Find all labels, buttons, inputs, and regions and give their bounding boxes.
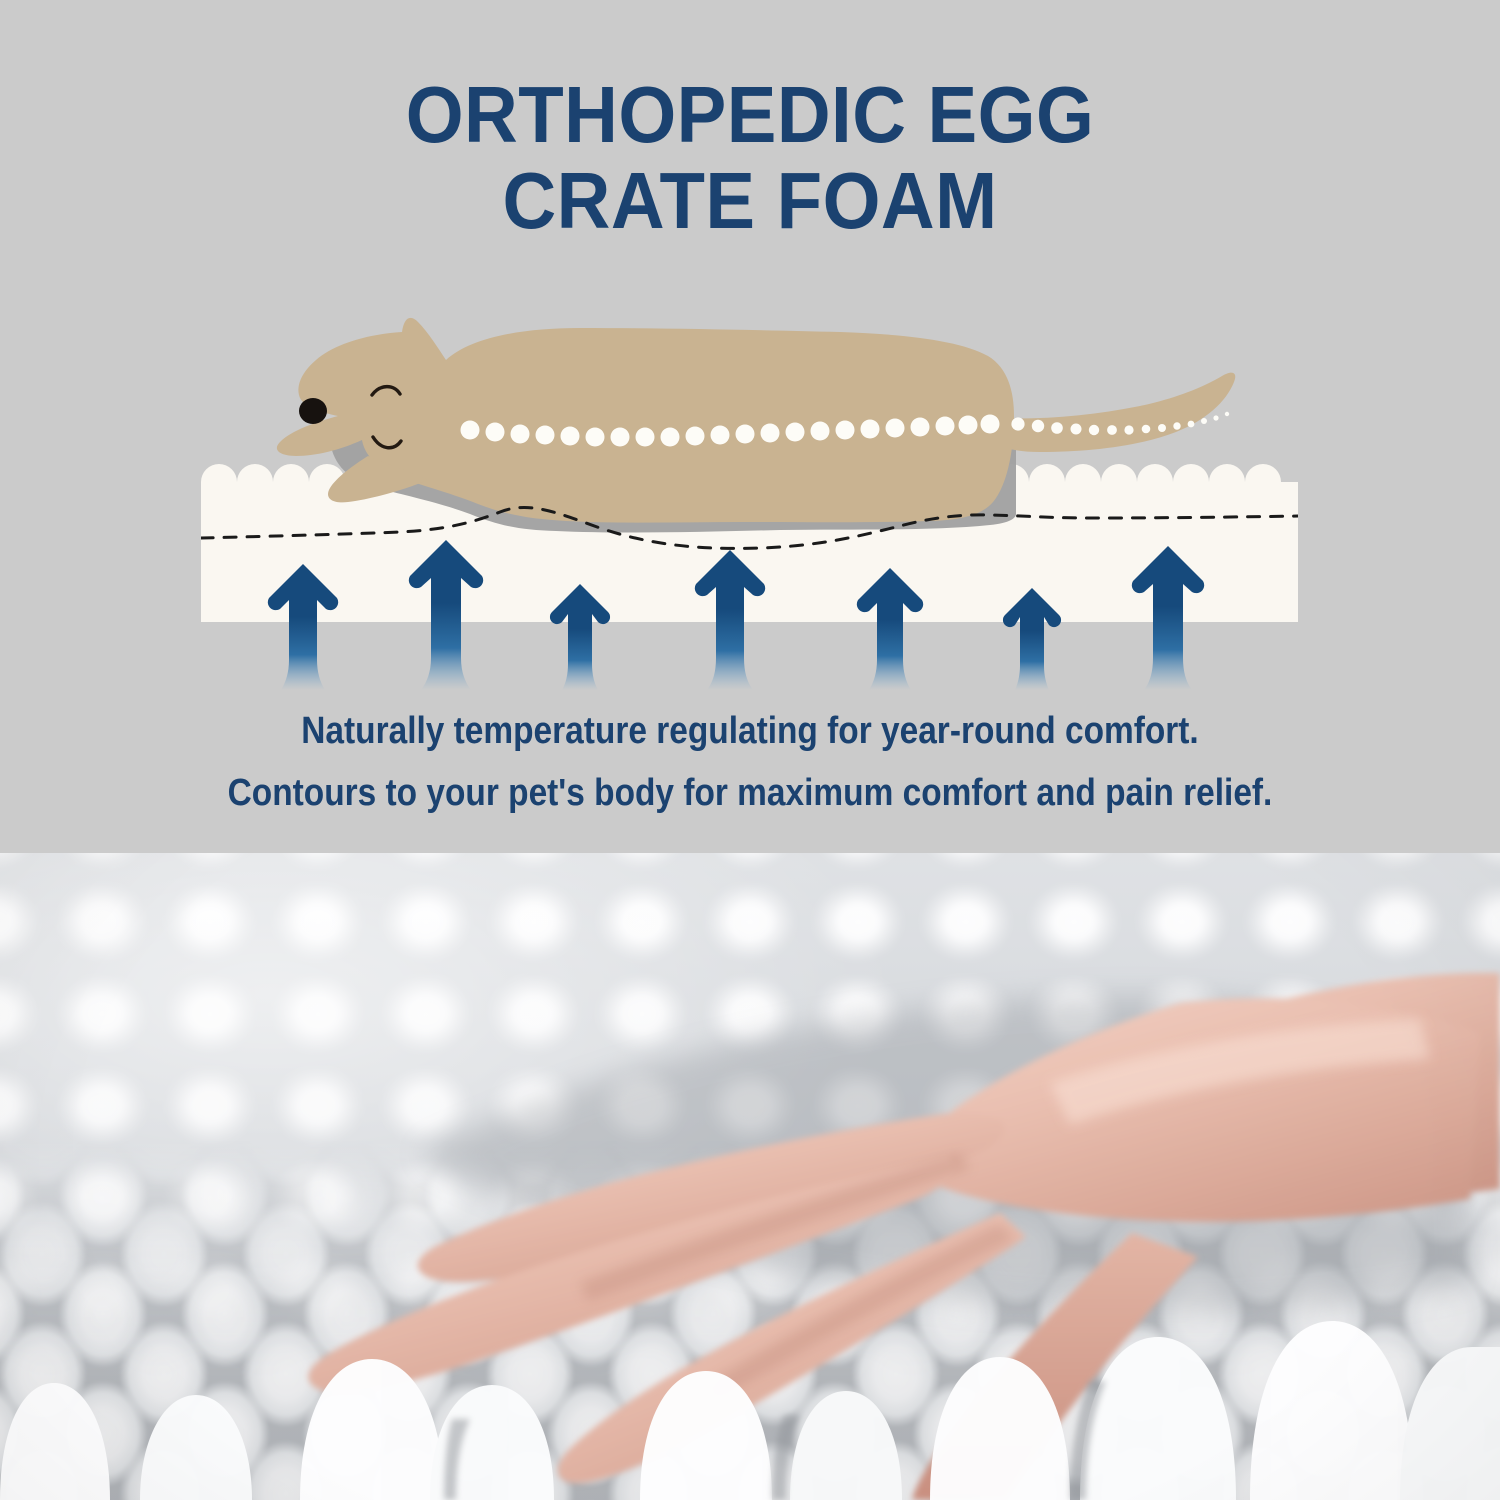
- page-title: ORTHOPEDIC EGG CRATE FOAM: [53, 72, 1448, 244]
- caption-line-2: Contours to your pet's body for maximum …: [90, 762, 1410, 824]
- dog-on-foam-illustration: [0, 300, 1500, 690]
- caption-line-1: Naturally temperature regulating for yea…: [90, 700, 1410, 762]
- dog-nose: [299, 398, 327, 424]
- product-infographic: ORTHOPEDIC EGG CRATE FOAM: [0, 0, 1500, 1500]
- caption-block: Naturally temperature regulating for yea…: [90, 700, 1410, 824]
- infographic-top-panel: ORTHOPEDIC EGG CRATE FOAM: [0, 0, 1500, 853]
- foam-photo-panel: [0, 853, 1500, 1500]
- hand-pressing-foam: [0, 853, 1500, 1500]
